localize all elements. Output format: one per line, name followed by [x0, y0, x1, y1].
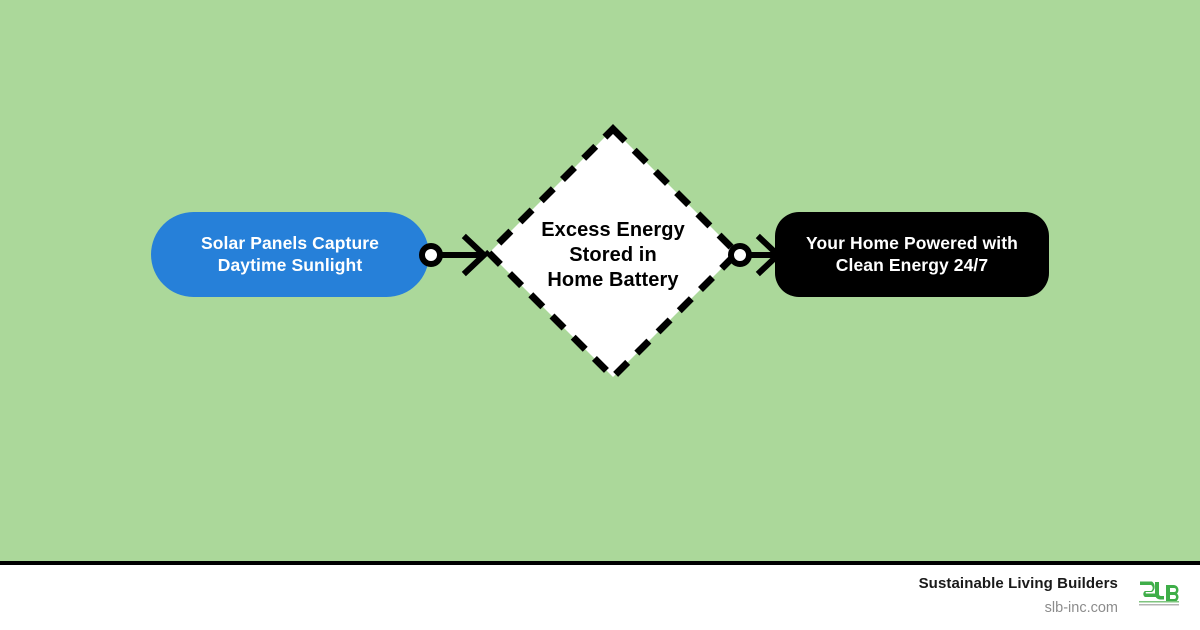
footer-content: Sustainable Living Builders slb-inc.com	[919, 573, 1182, 619]
home-label-line-1: Your Home Powered with	[806, 233, 1018, 253]
flow-step-home-battery[interactable]: Excess Energy Stored in Home Battery	[483, 123, 743, 383]
connector-start-circle-icon	[422, 246, 440, 264]
flow-step-solar-panels-label: Solar Panels Capture Daytime Sunlight	[201, 233, 379, 276]
home-label-line-2: Clean Energy 24/7	[836, 255, 988, 275]
connector-start-circle-icon	[731, 246, 749, 264]
battery-label-line-3: Home Battery	[547, 269, 678, 291]
infographic-canvas: Solar Panels Capture Daytime Sunlight Ex…	[0, 0, 1200, 630]
flow-step-solar-panels[interactable]: Solar Panels Capture Daytime Sunlight	[151, 212, 429, 297]
process-flow-diagram: Solar Panels Capture Daytime Sunlight Ex…	[0, 0, 1200, 561]
footer-company-name: Sustainable Living Builders	[919, 573, 1118, 595]
flow-step-home-powered-label: Your Home Powered with Clean Energy 24/7	[806, 233, 1018, 276]
battery-label-line-1: Excess Energy	[541, 219, 685, 241]
footer-website-url[interactable]: slb-inc.com	[1045, 598, 1118, 619]
flow-step-home-powered[interactable]: Your Home Powered with Clean Energy 24/7	[775, 212, 1049, 297]
solar-label-line-2: Daytime Sunlight	[218, 255, 363, 275]
footer-brand-text: Sustainable Living Builders slb-inc.com	[919, 573, 1118, 619]
battery-label-line-2: Stored in	[569, 244, 657, 266]
slb-logo-icon	[1136, 580, 1182, 610]
flow-step-home-battery-label: Excess Energy Stored in Home Battery	[513, 218, 713, 292]
footer-bar: Sustainable Living Builders slb-inc.com	[0, 565, 1200, 630]
solar-label-line-1: Solar Panels Capture	[201, 233, 379, 253]
